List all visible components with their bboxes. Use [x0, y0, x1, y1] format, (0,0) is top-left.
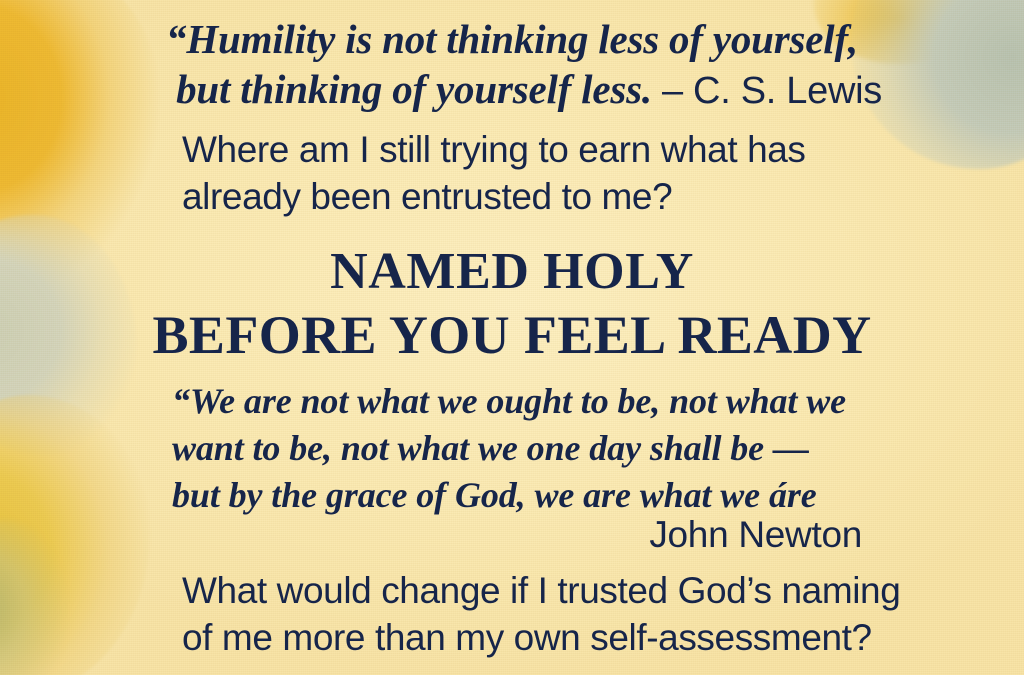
newton-quote-line-2: want to be, not what we one day shall be… [172, 425, 892, 472]
newton-attribution: John Newton [172, 514, 862, 556]
lewis-quote-line-2-wrap: but thinking of yourself less. – C. S. L… [0, 64, 1024, 114]
newton-quote-line-3: but by the grace of God, we are what we … [172, 472, 892, 519]
question-one-line-1: Where am I still trying to earn what has [182, 127, 942, 174]
headline-line-2: BEFORE YOU FEEL READY [0, 303, 1024, 369]
headline-line-1: NAMED HOLY [0, 240, 1024, 303]
question-two-line-2: of me more than my own self-assessment? [182, 615, 957, 662]
page-title: NAMED HOLY BEFORE YOU FEEL READY [0, 240, 1024, 369]
reflection-question-two: What would change if I trusted God’s nam… [182, 568, 957, 661]
reflection-question-one: Where am I still trying to earn what has… [182, 127, 942, 220]
poster-content: “Humility is not thinking less of yourse… [0, 0, 1024, 675]
newton-quote-line-1: “We are not what we ought to be, not wha… [172, 378, 892, 425]
lewis-attribution: – C. S. Lewis [662, 70, 882, 112]
question-two-line-1: What would change if I trusted God’s nam… [182, 568, 957, 615]
lewis-quote-line-1: “Humility is not thinking less of yourse… [0, 14, 1024, 64]
lewis-quote-line-2: but thinking of yourself less. [176, 66, 652, 112]
devotional-poster: “Humility is not thinking less of yourse… [0, 0, 1024, 675]
newton-quote-block: “We are not what we ought to be, not wha… [172, 378, 892, 518]
lewis-quote-block: “Humility is not thinking less of yourse… [0, 14, 1024, 114]
question-one-line-2: already been entrusted to me? [182, 174, 942, 221]
